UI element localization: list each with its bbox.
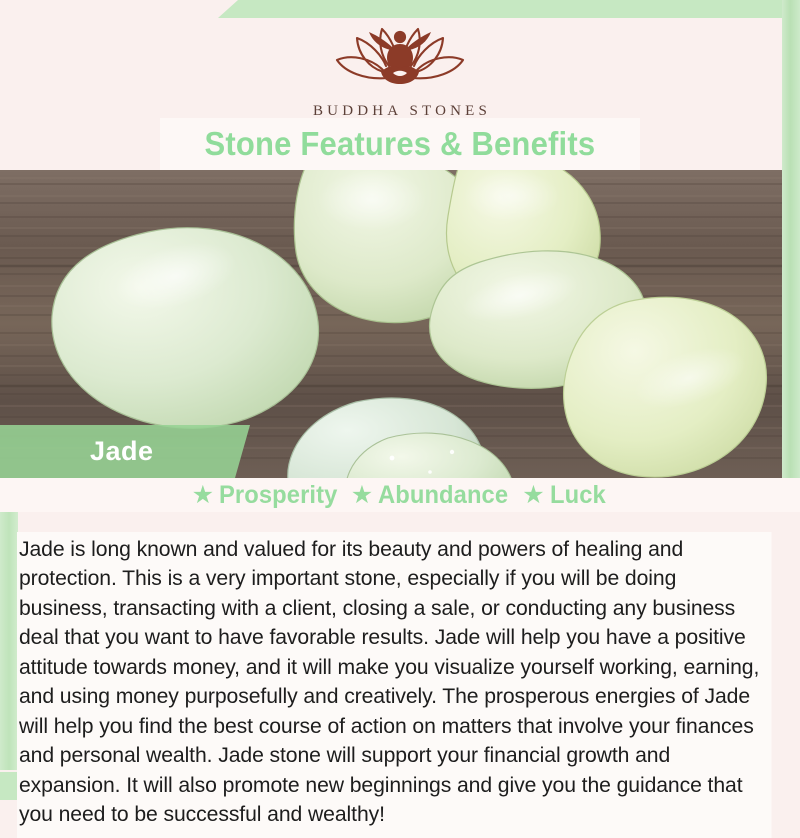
benefit-item-abundance: ★ Abundance <box>351 481 515 510</box>
lotus-meditation-icon <box>325 22 475 99</box>
benefit-label: Luck <box>550 481 606 510</box>
stone-description: Jade is long known and valued for its be… <box>17 532 772 838</box>
star-icon: ★ <box>522 483 544 508</box>
benefits-row: ★ Prosperity ★ Abundance ★ Luck <box>0 478 800 512</box>
star-icon: ★ <box>192 483 214 508</box>
benefit-label: Abundance <box>378 481 508 510</box>
star-icon: ★ <box>351 483 373 508</box>
stone-name-band: Jade <box>0 425 250 478</box>
section-title-band: Stone Features & Benefits <box>160 118 640 170</box>
benefit-item-luck: ★ Luck <box>522 481 608 510</box>
stone-name-label: Jade <box>90 436 154 467</box>
benefit-item-prosperity: ★ Prosperity <box>192 481 344 510</box>
page-title: Stone Features & Benefits <box>205 125 596 163</box>
brand-header: BUDDHA STONES <box>0 0 800 124</box>
benefit-label: Prosperity <box>219 481 337 510</box>
